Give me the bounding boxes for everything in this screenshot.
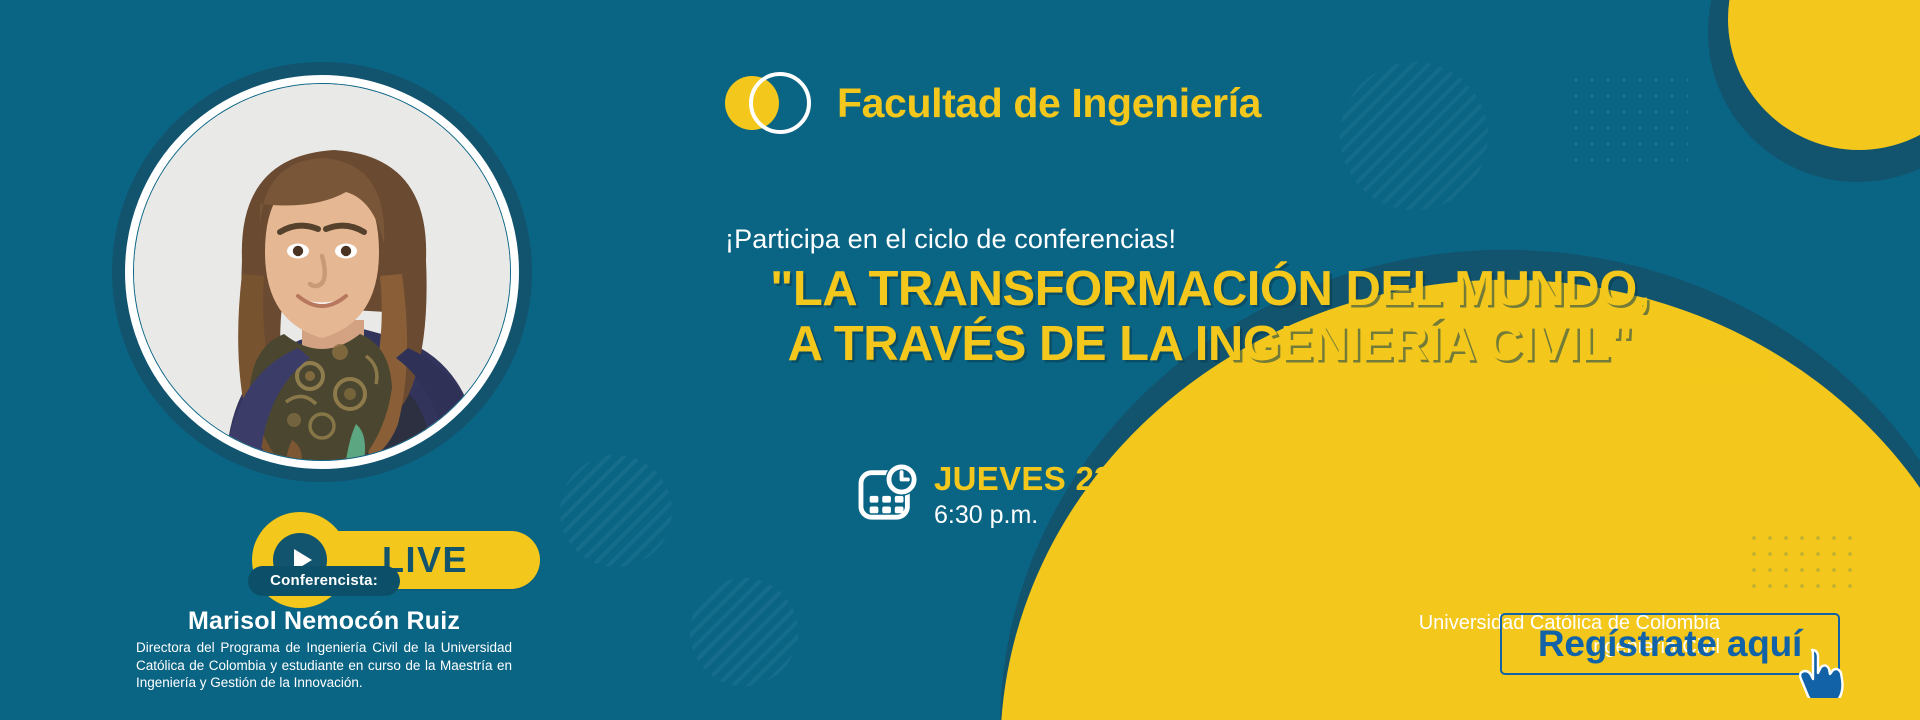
organizer-label: Organiza: — [1160, 588, 1720, 612]
dot-grid-decoration-middle-right — [1740, 412, 1880, 482]
speaker-name: Marisol Nemocón Ruiz — [110, 607, 538, 636]
calendar-clock-icon — [858, 464, 920, 522]
event-date: JUEVES 23 DE JUNIO — [934, 462, 1281, 497]
dot-grid-decoration-on-yellow — [1746, 530, 1858, 594]
overlapping-circles-logo-icon — [725, 72, 795, 134]
striped-circle-decoration-mid — [560, 455, 672, 567]
headline-line-2: A TRAVÉS DE LA INGENIERÍA CIVIL" — [700, 317, 1720, 372]
speaker-bio: Directora del Programa de Ingeniería Civ… — [110, 639, 538, 692]
page-title: "LA TRANSFORMACIÓN DEL MUNDO, A TRAVÉS D… — [700, 262, 1720, 372]
headline-line-1: "LA TRANSFORMACIÓN DEL MUNDO, — [700, 262, 1720, 317]
register-button-label: Regístrate aquí — [1538, 623, 1802, 665]
speaker-info: Conferencista: Marisol Nemocón Ruiz Dire… — [110, 566, 538, 692]
top-right-ring-decoration — [1708, 0, 1920, 182]
event-banner: LIVE Conferencista: Marisol Nemocón Ruiz… — [0, 0, 1920, 720]
register-button[interactable]: Regístrate aquí — [1500, 613, 1840, 675]
avatar — [134, 84, 510, 460]
speaker-photo-frame: LIVE — [112, 62, 532, 482]
event-kicker: ¡Participa en el ciclo de conferencias! — [725, 224, 1176, 255]
main-content: Facultad de Ingeniería ¡Participa en el … — [700, 0, 1720, 720]
event-time: 6:30 p.m. — [934, 501, 1281, 530]
event-datetime: JUEVES 23 DE JUNIO 6:30 p.m. — [858, 462, 1281, 530]
top-right-circle-decoration — [1728, 0, 1920, 150]
faculty-logo-row: Facultad de Ingeniería — [725, 72, 1261, 134]
faculty-title: Facultad de Ingeniería — [837, 80, 1261, 127]
pointing-hand-cursor-icon — [1796, 646, 1844, 698]
speaker-role-badge: Conferencista: — [248, 566, 400, 596]
